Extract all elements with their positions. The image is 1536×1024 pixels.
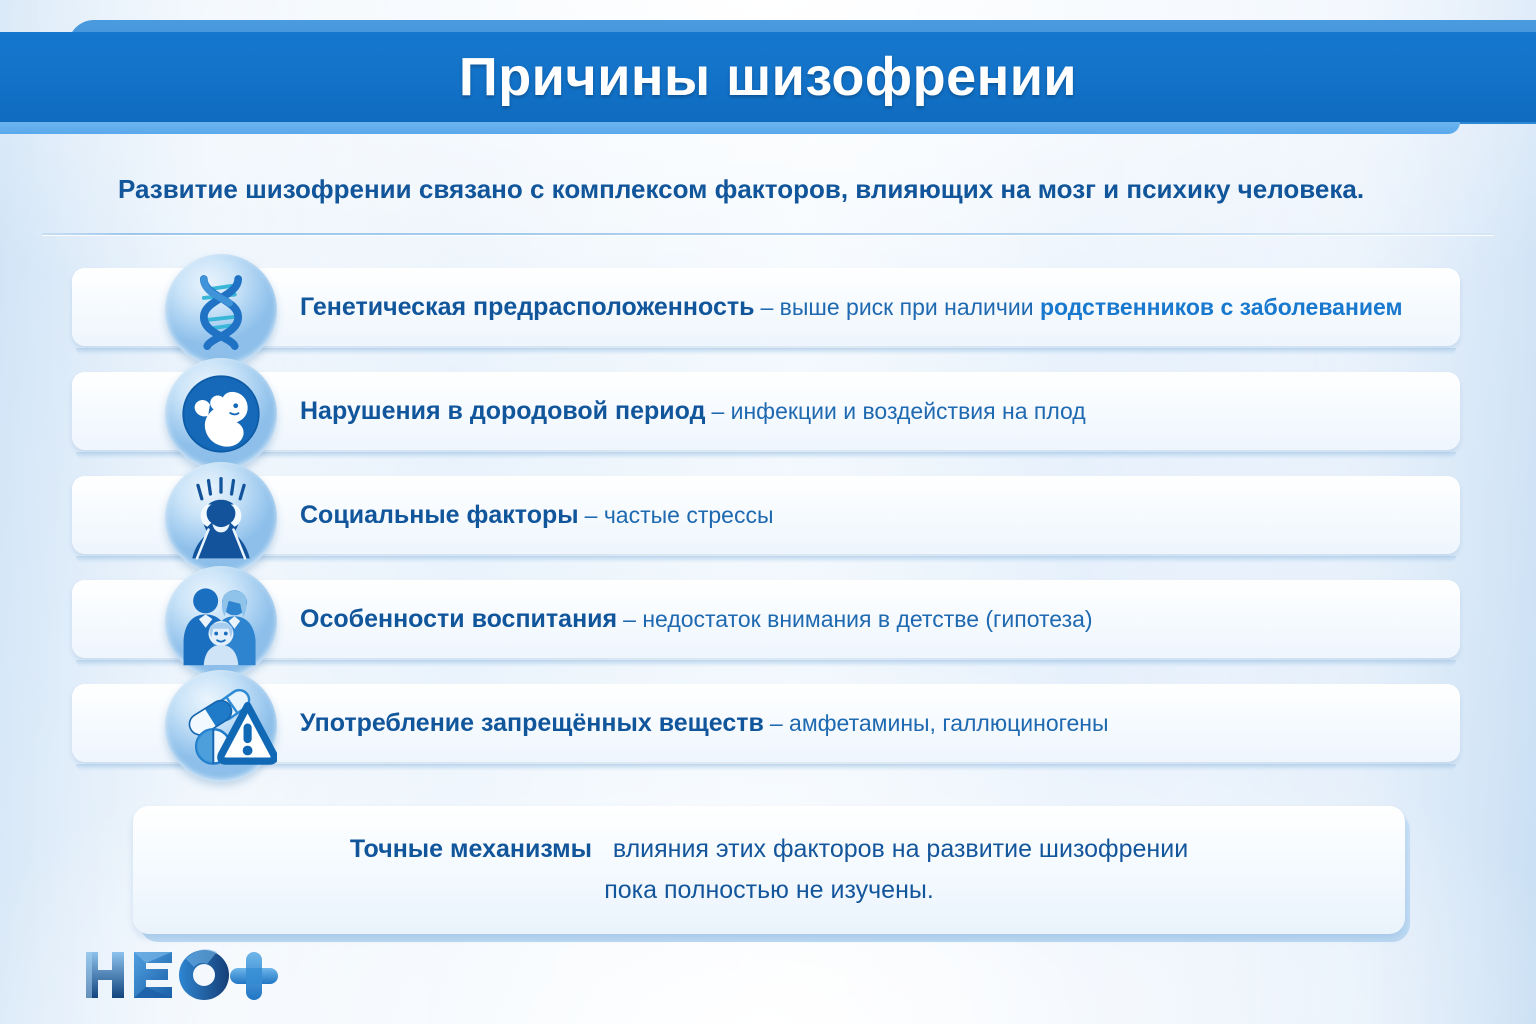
list-item-dash: – [711, 398, 724, 425]
conclusion-rest: влияния этих факторов на развитие шизофр… [613, 835, 1188, 863]
family-icon [165, 566, 277, 678]
list-item-text: Особенности воспитания – недостаток вним… [300, 574, 1093, 664]
list-item[interactable]: Социальные факторы – частые стрессы [0, 470, 1536, 568]
page-title: Причины шизофрении [0, 32, 1536, 122]
conclusion-box: Точные механизмы влияния этих факторов н… [133, 806, 1405, 934]
list-item-dash: – [585, 502, 598, 529]
intro-paragraph: Развитие шизофрении связано с комплексом… [118, 172, 1438, 206]
list-item-description: инфекции и воздействия на плод [731, 398, 1086, 425]
list-item-title: Особенности воспитания [300, 605, 617, 634]
conclusion-emphasis: Точные механизмы [350, 835, 592, 863]
infographic-root: Причины шизофрении Развитие шизофрении с… [0, 0, 1536, 1024]
list-item-dash: – [623, 606, 636, 633]
list-item-description: частые стрессы [604, 502, 774, 529]
list-item-title: Социальные факторы [300, 501, 579, 530]
list-item-text: Употребление запрещённых веществ – амфет… [300, 678, 1109, 768]
list-item[interactable]: Употребление запрещённых веществ – амфет… [0, 678, 1536, 776]
list-item-description: недостаток внимания в детстве (гипотеза) [642, 606, 1092, 633]
list-item-text: Генетическая предрасположенность – выше … [300, 262, 1402, 352]
list-item-text: Социальные факторы – частые стрессы [300, 470, 773, 560]
conclusion-line-1: Точные механизмы влияния этих факторов н… [350, 835, 1188, 864]
conclusion-line-2: пока полностью не изучены. [604, 876, 934, 905]
list-item-title: Нарушения в дородовой период [300, 397, 705, 426]
intro-divider [42, 233, 1494, 235]
factor-list: Генетическая предрасположенность – выше … [0, 262, 1536, 782]
list-item-text: Нарушения в дородовой период – инфекции … [300, 366, 1086, 456]
list-item-highlight: родственников с заболеванием [1040, 294, 1403, 321]
list-item-description: выше риск при наличии [780, 294, 1034, 321]
list-item-dash: – [770, 710, 783, 737]
fetus-icon [165, 358, 277, 470]
list-item-title: Употребление запрещённых веществ [300, 709, 764, 738]
header-banner-underline [0, 122, 1460, 134]
logo-neo-plus[interactable] [82, 946, 282, 1006]
list-item-dash: – [760, 294, 773, 321]
list-item[interactable]: Особенности воспитания – недостаток вним… [0, 574, 1536, 672]
stressed-person-icon [165, 462, 277, 574]
list-item-title: Генетическая предрасположенность [300, 293, 754, 322]
list-item-description: амфетамины, галлюциногены [789, 710, 1108, 737]
list-item[interactable]: Нарушения в дородовой период – инфекции … [0, 366, 1536, 464]
header-banner: Причины шизофрении [0, 0, 1536, 142]
pills-warning-icon [165, 670, 277, 782]
list-item[interactable]: Генетическая предрасположенность – выше … [0, 262, 1536, 360]
dna-icon [165, 254, 277, 366]
